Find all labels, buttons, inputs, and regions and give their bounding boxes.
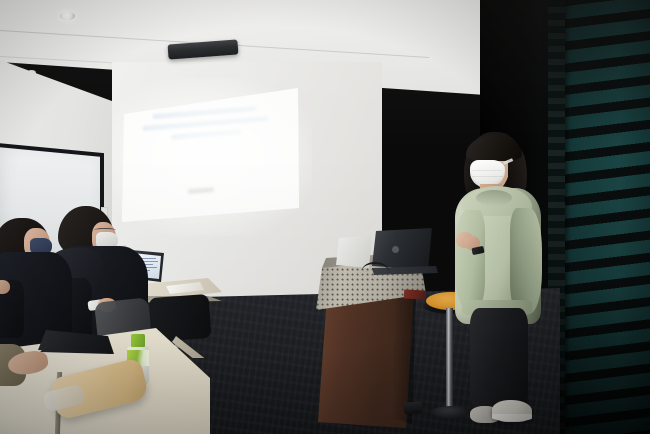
hood-shadow	[476, 190, 512, 206]
photo-scene: A masked presenter in a light green hood…	[0, 0, 650, 434]
presenter-right-arm	[510, 208, 542, 314]
presenter-left-arm	[455, 210, 485, 310]
presenter-trousers	[470, 308, 528, 412]
shoe-sole	[492, 414, 532, 421]
mask-pleat	[472, 170, 502, 171]
slide-text-block	[130, 104, 285, 180]
podium-caster-wheel	[404, 401, 423, 415]
mask-pleat	[472, 176, 503, 177]
downlight-icon	[60, 12, 75, 20]
bottle-cap[interactable]	[131, 334, 145, 347]
laptop-logo-icon	[392, 246, 399, 253]
red-notebook	[404, 289, 426, 299]
slide-title-line	[171, 129, 241, 140]
